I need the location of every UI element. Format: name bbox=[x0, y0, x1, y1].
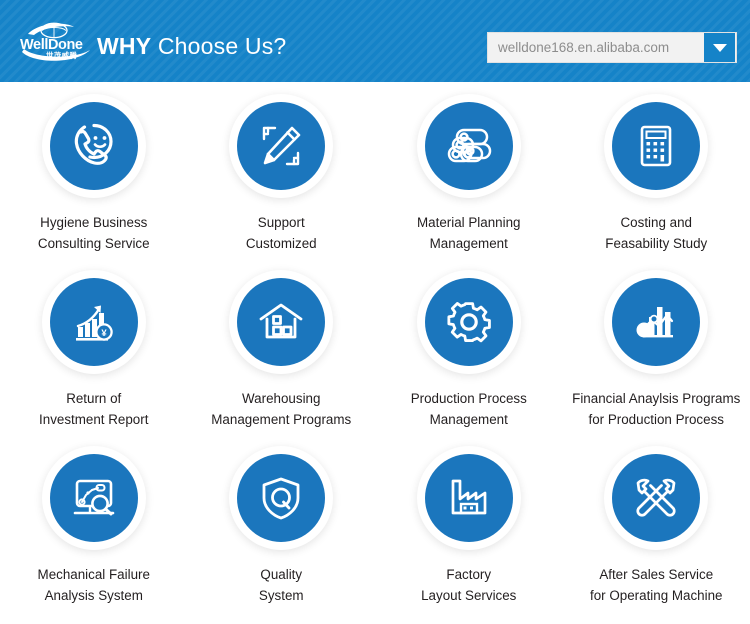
globe-swoosh-logo-icon: WellDone 世茂威腾 bbox=[20, 21, 98, 63]
growth-chart-coin-icon: ¥ bbox=[67, 295, 121, 349]
feature-icon-circle bbox=[50, 102, 138, 190]
feature-icon-circle: ¥ bbox=[50, 278, 138, 366]
feature-icon-circle bbox=[425, 454, 513, 542]
page-root: WellDone 世茂威腾 WHY Choose Us? welldone168… bbox=[0, 0, 750, 624]
feature-card[interactable]: Quality System bbox=[190, 442, 372, 618]
material-rolls-icon bbox=[442, 119, 496, 173]
calculator-icon bbox=[629, 119, 683, 173]
chevron-down-icon bbox=[713, 44, 727, 52]
url-dropdown-button[interactable] bbox=[704, 33, 735, 62]
gear-icon bbox=[442, 295, 496, 349]
feature-label: Financial Anaylsis Programs for Producti… bbox=[572, 388, 740, 430]
features-grid: Hygiene Business Consulting Service bbox=[0, 82, 750, 618]
wrench-screwdriver-icon bbox=[629, 471, 683, 525]
feature-label: Material Planning Management bbox=[417, 212, 520, 254]
svg-text:¥: ¥ bbox=[101, 328, 107, 339]
feature-card[interactable]: Production Process Management bbox=[378, 266, 560, 442]
feature-label: Hygiene Business Consulting Service bbox=[38, 212, 150, 254]
feature-icon-circle bbox=[612, 102, 700, 190]
page-header: WellDone 世茂威腾 WHY Choose Us? welldone168… bbox=[0, 0, 750, 82]
feature-label: Support Customized bbox=[246, 212, 317, 254]
pencil-ruler-icon bbox=[254, 119, 308, 173]
shield-q-icon bbox=[254, 471, 308, 525]
feature-icon-circle bbox=[612, 278, 700, 366]
warehouse-house-icon bbox=[254, 295, 308, 349]
feature-label: After Sales Service for Operating Machin… bbox=[590, 564, 723, 606]
feature-icon-circle bbox=[50, 454, 138, 542]
welldone-logo: WellDone 世茂威腾 bbox=[20, 21, 98, 63]
feature-icon-circle bbox=[425, 102, 513, 190]
phone-smiley-icon bbox=[67, 119, 121, 173]
feature-label: Factory Layout Services bbox=[421, 564, 516, 606]
page-title-rest: Choose Us? bbox=[151, 33, 286, 59]
feature-label: Quality System bbox=[259, 564, 304, 606]
feature-card[interactable]: Material Planning Management bbox=[378, 90, 560, 266]
store-url-text[interactable]: welldone168.en.alibaba.com bbox=[488, 40, 704, 56]
page-title: WHY Choose Us? bbox=[97, 33, 286, 59]
feature-label: Production Process Management bbox=[411, 388, 527, 430]
feature-card[interactable]: Mechanical Failure Analysis System bbox=[3, 442, 185, 618]
feature-icon-circle bbox=[425, 278, 513, 366]
feature-card[interactable]: Financial Anaylsis Programs for Producti… bbox=[565, 266, 747, 442]
feature-icon-circle bbox=[237, 278, 325, 366]
feature-card[interactable]: ¥ Return of Investment Report bbox=[3, 266, 185, 442]
feature-card[interactable]: Factory Layout Services bbox=[378, 442, 560, 618]
monitor-robot-search-icon bbox=[67, 471, 121, 525]
feature-label: Warehousing Management Programs bbox=[211, 388, 351, 430]
feature-icon-circle bbox=[237, 454, 325, 542]
feature-icon-circle bbox=[612, 454, 700, 542]
feature-label: Costing and Feasability Study bbox=[605, 212, 707, 254]
page-title-bold: WHY bbox=[97, 33, 151, 59]
feature-label: Mechanical Failure Analysis System bbox=[38, 564, 150, 606]
feature-card[interactable]: Costing and Feasability Study bbox=[565, 90, 747, 266]
feature-card[interactable]: Support Customized bbox=[190, 90, 372, 266]
financial-analysis-chart-icon bbox=[629, 295, 683, 349]
feature-label: Return of Investment Report bbox=[39, 388, 148, 430]
factory-icon bbox=[442, 471, 496, 525]
feature-icon-circle bbox=[237, 102, 325, 190]
store-url-bar[interactable]: welldone168.en.alibaba.com bbox=[487, 32, 737, 63]
feature-card[interactable]: Hygiene Business Consulting Service bbox=[3, 90, 185, 266]
feature-card[interactable]: Warehousing Management Programs bbox=[190, 266, 372, 442]
feature-card[interactable]: After Sales Service for Operating Machin… bbox=[565, 442, 747, 618]
